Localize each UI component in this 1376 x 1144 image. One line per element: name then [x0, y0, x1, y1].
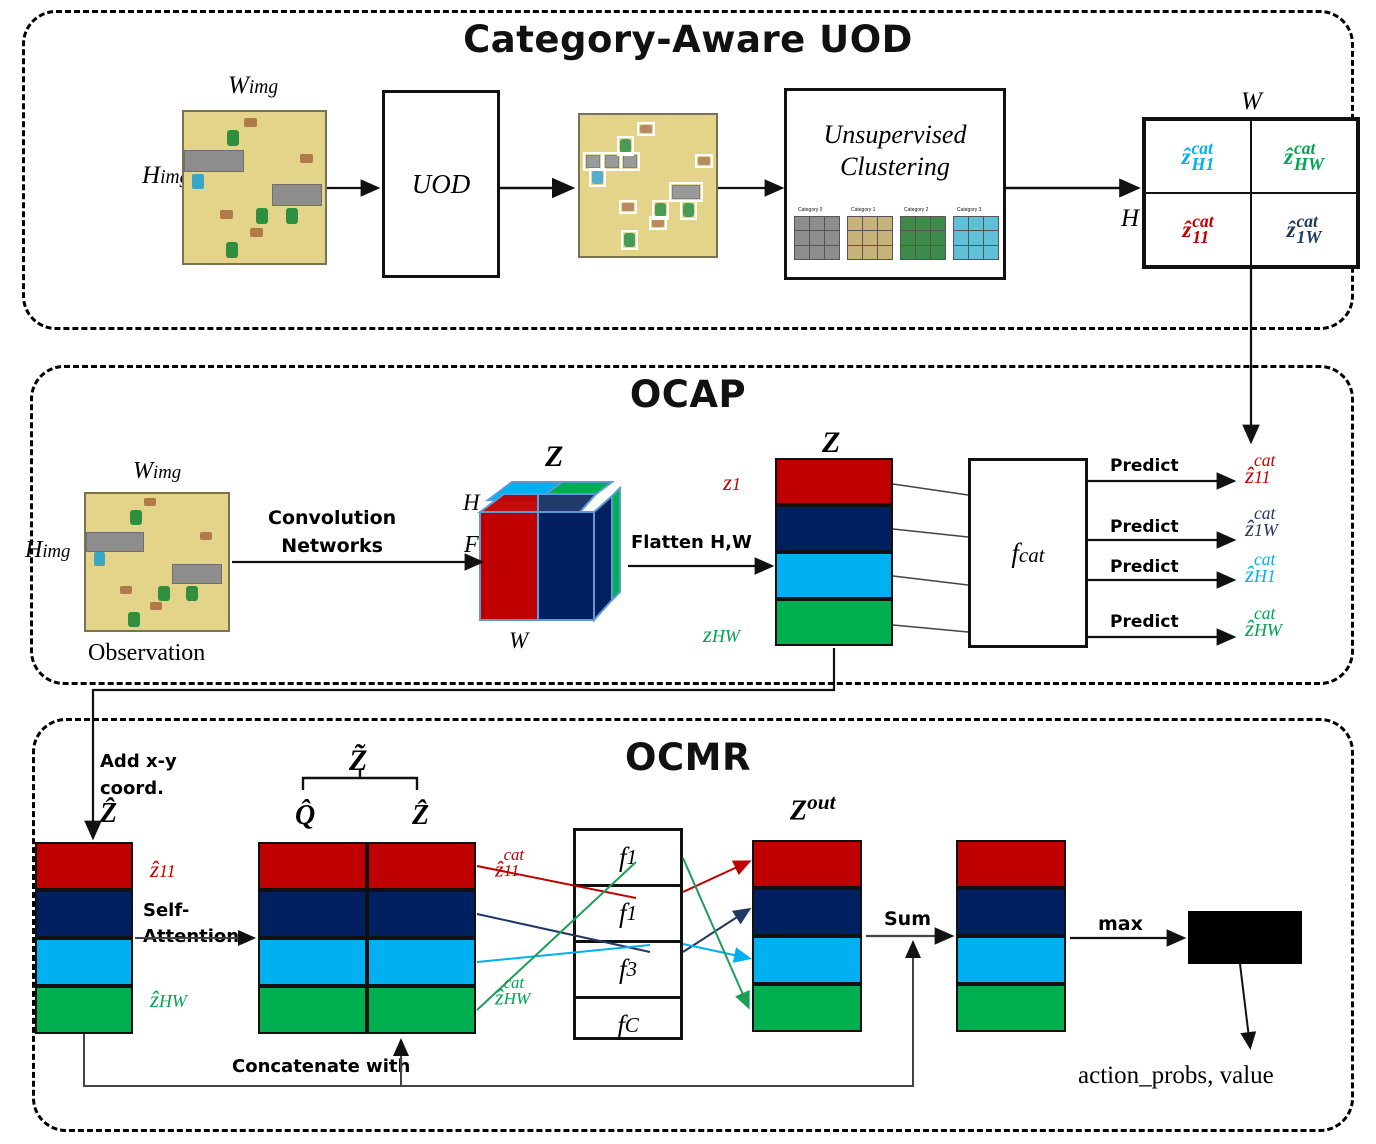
f-functions-box: f1 f1 f3 fC — [573, 828, 683, 1040]
ocap-z-seg-green — [775, 599, 893, 646]
grid-cell-h1-symbol: ẑ — [1182, 144, 1191, 170]
clustering-label-line1: Unsupervised — [824, 119, 967, 151]
grid-cell-1w-symbol: ẑ — [1287, 217, 1296, 243]
grid-cell-1w: ẑcat1W — [1251, 193, 1357, 266]
uod-box: UOD — [382, 90, 500, 278]
prediction-11: ẑcat11 — [1245, 452, 1275, 488]
panel-title-ocap: OCAP — [0, 373, 1376, 416]
uod-width-label: Wimg — [228, 72, 278, 100]
uod-grid-h-label: H — [1121, 205, 1139, 233]
uod-box-label: UOD — [412, 169, 471, 200]
ocmr-zhat-seg-red — [35, 842, 133, 890]
f-row-0-symbol: f — [619, 842, 627, 873]
cube-h-label: H — [463, 490, 480, 516]
grid-cell-hw: ẑcatHW — [1251, 120, 1357, 193]
edge-label-11: ẑcat11 — [495, 847, 524, 880]
prediction-1w: ẑcat1W — [1245, 505, 1278, 541]
predict-label-3: Predict — [1110, 557, 1179, 577]
zout-title: Zout — [790, 790, 835, 827]
grid-cell-1w-sub: 1W — [1297, 229, 1322, 246]
uod-height-symbol: H — [142, 162, 160, 189]
ztilde-q-seg-cyan — [258, 938, 367, 986]
fcat-box: fcat — [968, 458, 1088, 648]
category-label-2: Category 2 — [904, 207, 928, 213]
ocap-feature-label: F — [464, 532, 479, 559]
grid-cell-11-sub: 11 — [1192, 229, 1213, 246]
mlp-black-box — [1188, 911, 1302, 964]
panel-title-ocmr: OCMR — [0, 736, 1376, 779]
edge-label-11-symbol: ẑ — [495, 856, 504, 881]
ztilde-z-seg-cyan — [367, 938, 476, 986]
zhat2-title: Ẑ — [412, 800, 429, 832]
zout-seg-navy — [752, 888, 862, 936]
ocap-z-first-label: z1 — [723, 470, 741, 496]
ocap-z-last-sub: HW — [712, 626, 740, 646]
conv-label-line1: Convolution — [268, 505, 396, 533]
flatten-label: Flatten H,W — [631, 532, 752, 553]
panel-title-uod: Category-Aware UOD — [0, 18, 1376, 61]
ocap-z-seg-red — [775, 458, 893, 505]
cube-title: Z — [545, 440, 563, 474]
ocap-z-last-label: zHW — [703, 622, 740, 648]
f-row-0: f1 — [576, 831, 680, 887]
ocap-width-subscript: img — [153, 462, 181, 483]
prediction-11-symbol: ẑ — [1245, 463, 1254, 488]
ocap-z-title: Z — [822, 426, 840, 460]
uod-result-grid: ẑcatH1 ẑcatHW ẑcat11 ẑcat1W — [1142, 117, 1360, 269]
uod-width-symbol: W — [228, 72, 249, 99]
ocap-observation-image — [84, 492, 230, 632]
grid-cell-11-symbol: ẑ — [1182, 217, 1191, 243]
zout-seg-green — [752, 984, 862, 1032]
final-seg-green — [956, 984, 1066, 1032]
fcat-label: fcat — [1011, 538, 1044, 569]
prediction-11-sub: 11 — [1254, 469, 1275, 487]
category-label-3: Category 3 — [957, 207, 981, 213]
ocmr-zhat-seg-green — [35, 986, 133, 1034]
ztilde-z-seg-red — [367, 842, 476, 890]
zout-seg-cyan — [752, 936, 862, 984]
uod-detected-objects-image — [578, 113, 718, 258]
ztilde-q-seg-red — [258, 842, 367, 890]
ocmr-zhat-seg-navy — [35, 890, 133, 938]
predict-label-2: Predict — [1110, 517, 1179, 537]
prediction-h1-symbol: ẑ — [1245, 562, 1254, 587]
uod-width-subscript: img — [249, 77, 278, 98]
ocap-z-last-symbol: z — [703, 622, 712, 647]
grid-cell-h1: ẑcatH1 — [1145, 120, 1251, 193]
self-attention-line2: Attention — [143, 924, 239, 950]
ocap-width-symbol: W — [133, 458, 153, 484]
zout-sup: out — [807, 790, 835, 814]
uod-grid-w-label: W — [1241, 88, 1262, 116]
grid-cell-h1-sub: H1 — [1192, 156, 1215, 173]
ocap-height-label: Himg — [25, 537, 70, 564]
output-label: action_probs, value — [1078, 1062, 1274, 1090]
f-row-1: f1 — [576, 887, 680, 943]
ocap-height-subscript: img — [42, 541, 70, 562]
f-row-1-symbol: f — [619, 898, 627, 929]
self-attention-line1: Self- — [143, 898, 239, 924]
self-attention-label: Self- Attention — [143, 898, 239, 950]
ocmr-zhat-seg-cyan — [35, 938, 133, 986]
clustering-label-line2: Clustering — [840, 151, 950, 183]
conv-label-line2: Networks — [268, 533, 396, 561]
convolution-networks-label: Convolution Networks — [268, 505, 396, 560]
grid-cell-11: ẑcat11 — [1145, 193, 1251, 266]
final-seg-navy — [956, 888, 1066, 936]
uod-observation-image — [182, 110, 327, 265]
ocap-z-seg-navy — [775, 505, 893, 552]
prediction-hw: ẑcatHW — [1245, 605, 1282, 641]
edge-label-hw-symbol: ẑ — [495, 984, 504, 1009]
prediction-hw-symbol: ẑ — [1245, 616, 1254, 641]
qhat-title: Q̂ — [295, 800, 315, 832]
grid-cell-hw-symbol: ẑ — [1284, 144, 1293, 170]
add-xy-coord-label: Add x-y coord. — [100, 748, 177, 802]
final-seg-red — [956, 840, 1066, 888]
ocmr-zhat-last-symbol: ẑ — [150, 987, 159, 1012]
f-row-2: f3 — [576, 943, 680, 999]
zout-symbol: Z — [790, 795, 807, 826]
ocmr-zhat-title: Ẑ — [100, 798, 117, 830]
prediction-hw-sub: HW — [1254, 622, 1282, 640]
add-coord-line1: Add x-y — [100, 748, 177, 775]
category-label-1: Category 1 — [851, 207, 875, 213]
prediction-h1-sub: H1 — [1254, 568, 1276, 586]
f-row-2-sub: 3 — [626, 957, 637, 982]
ocap-width-label: Wimg — [133, 458, 181, 485]
cube-w-label: W — [509, 628, 528, 654]
edge-label-hw-sub: HW — [504, 991, 531, 1008]
ocmr-zhat-last-label: ẑHW — [150, 987, 187, 1013]
fcat-symbol: f — [1011, 538, 1019, 568]
ocap-height-symbol: H — [25, 537, 42, 563]
max-label: max — [1098, 913, 1143, 935]
final-seg-cyan — [956, 936, 1066, 984]
ocmr-zhat-last-sub: HW — [159, 991, 187, 1011]
ocmr-zhat-first-sub: 11 — [159, 861, 176, 881]
f-row-3-sub: C — [625, 1013, 639, 1038]
concatenate-label: Concatenate with — [232, 1056, 410, 1077]
f-row-1-sub: 1 — [626, 901, 637, 926]
f-row-3-symbol: f — [617, 1010, 625, 1041]
predict-label-4: Predict — [1110, 612, 1179, 632]
ztilde-q-seg-green — [258, 986, 367, 1034]
fcat-subscript: cat — [1019, 543, 1045, 567]
grid-cell-hw-sub: HW — [1294, 156, 1324, 173]
edge-label-11-sub: 11 — [504, 863, 524, 880]
ocap-z-first-sub: 1 — [732, 474, 741, 494]
ocmr-zhat-first-symbol: ẑ — [150, 857, 159, 882]
ztilde-z-seg-green — [367, 986, 476, 1034]
sum-label: Sum — [884, 908, 931, 930]
ocap-observation-caption: Observation — [88, 640, 205, 667]
f-row-3: fC — [576, 999, 680, 1052]
ocap-z-seg-cyan — [775, 552, 893, 599]
zout-seg-red — [752, 840, 862, 888]
ztilde-z-seg-navy — [367, 890, 476, 938]
f-row-0-sub: 1 — [626, 845, 637, 870]
prediction-h1: ẑcatH1 — [1245, 551, 1276, 587]
ztilde-q-seg-navy — [258, 890, 367, 938]
prediction-1w-symbol: ẑ — [1245, 516, 1254, 541]
ocap-z-first-symbol: z — [723, 470, 732, 495]
predict-label-1: Predict — [1110, 456, 1179, 476]
ztilde-title: Z̃ — [349, 744, 367, 778]
ocmr-zhat-first-label: ẑ11 — [150, 857, 176, 883]
edge-label-hw: ẑcatHW — [495, 975, 530, 1008]
category-label-0: Category 0 — [798, 207, 822, 213]
prediction-1w-sub: 1W — [1254, 522, 1278, 540]
